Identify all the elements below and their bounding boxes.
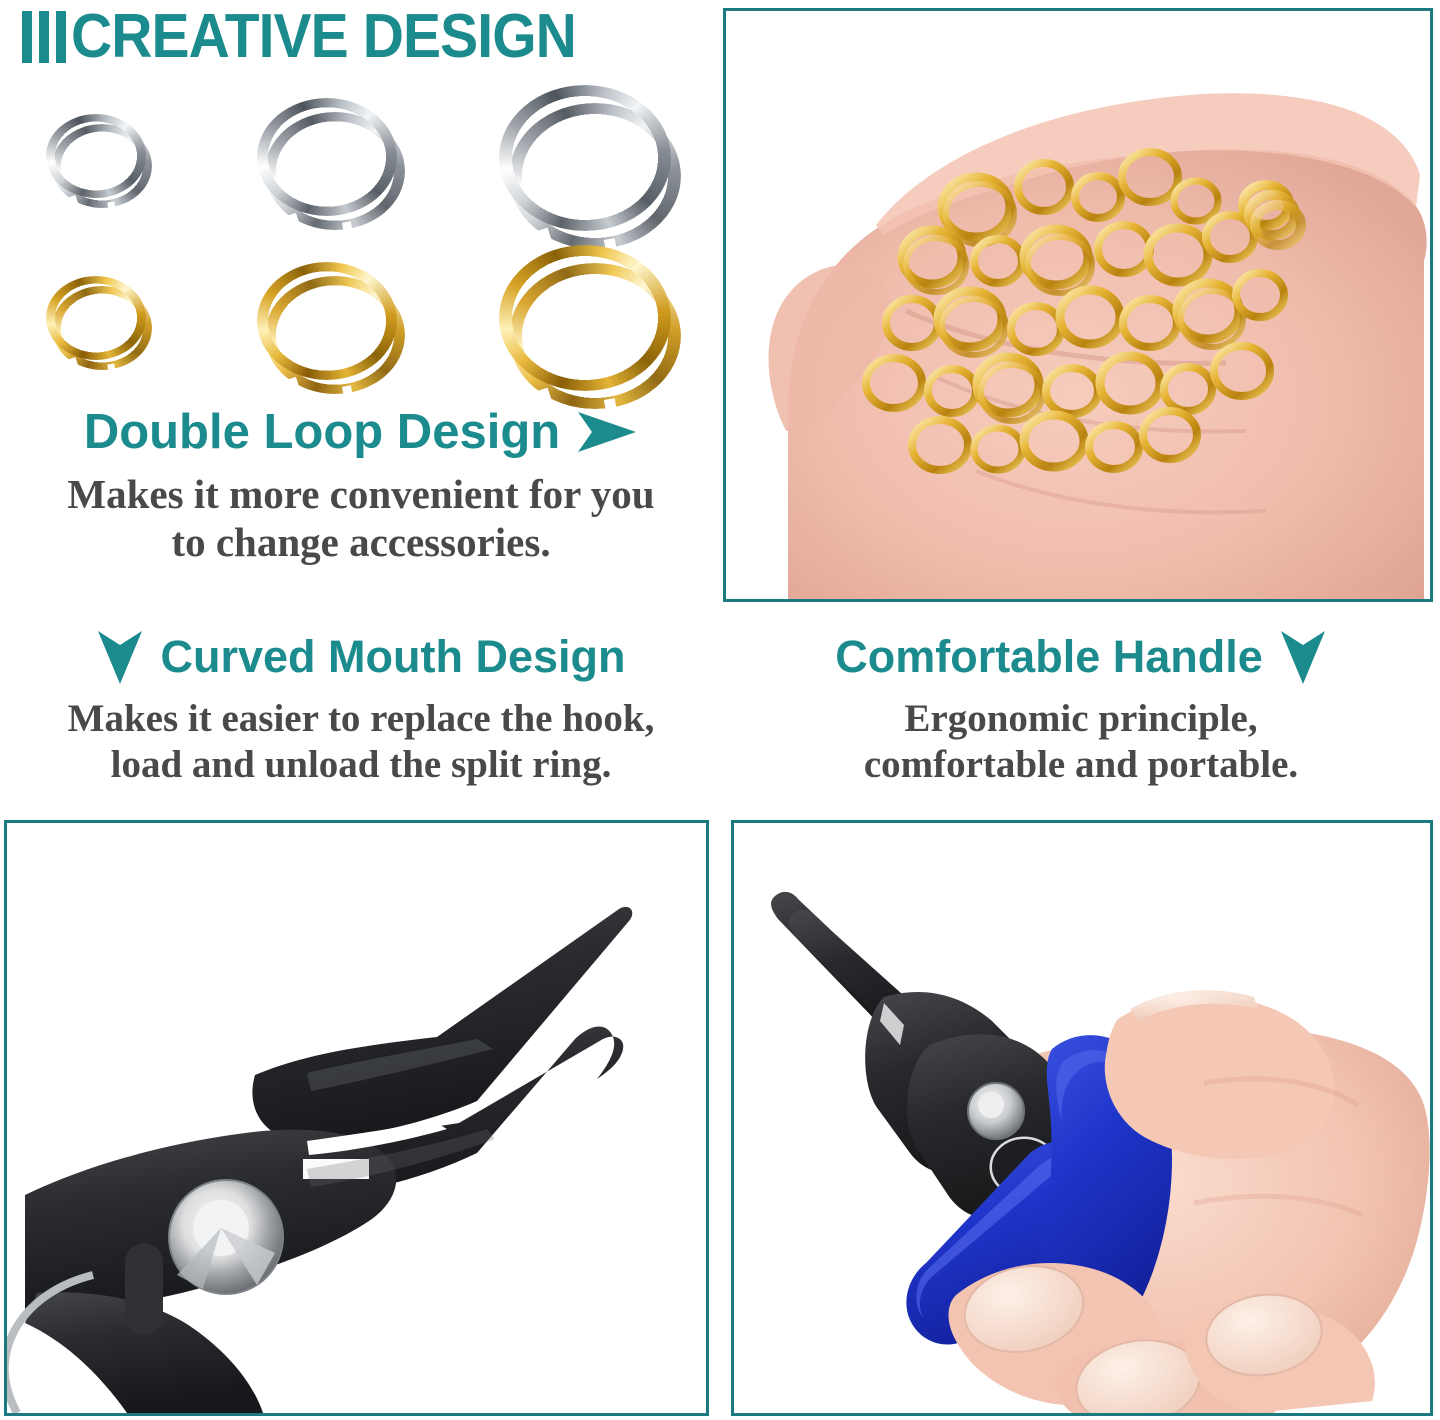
feature-double-loop-body: Makes it more convenient for you to chan… — [0, 470, 722, 567]
brand-header: CREATIVE DESIGN — [22, 4, 620, 70]
page-title: CREATIVE DESIGN — [71, 8, 576, 66]
feature-comfortable-handle-heading-text: Comfortable Handle — [835, 631, 1263, 683]
palm-illustration — [726, 11, 1430, 599]
hand-with-pliers-illustration — [734, 823, 1430, 1413]
medium-gold-split-ring — [248, 254, 418, 404]
feature-curved-mouth-body-line-2: load and unload the split ring. — [10, 742, 712, 788]
split-ring-size-chart — [18, 96, 708, 396]
infographic-page: CREATIVE DESIGN — [0, 0, 1440, 1420]
feature-curved-mouth-heading: Curved Mouth Design — [0, 628, 722, 686]
small-gold-split-ring — [40, 268, 160, 378]
large-silver-split-ring — [488, 78, 698, 258]
photo-palm-of-gold-rings — [723, 8, 1433, 602]
feature-double-loop-heading-text: Double Loop Design — [84, 404, 560, 460]
feature-curved-mouth: Curved Mouth Design Makes it easier to r… — [0, 628, 722, 788]
feature-double-loop-body-line-2: to change accessories. — [14, 518, 708, 566]
feature-curved-mouth-body: Makes it easier to replace the hook, loa… — [0, 696, 722, 788]
medium-silver-split-ring — [248, 90, 418, 240]
pliers-illustration — [7, 823, 706, 1413]
feature-double-loop-heading: Double Loop Design — [0, 404, 722, 460]
feature-comfortable-handle-heading: Comfortable Handle — [722, 628, 1440, 686]
feature-double-loop-body-line-1: Makes it more convenient for you — [14, 470, 708, 518]
arrow-down-icon — [96, 628, 144, 686]
brand-bars-icon — [22, 11, 66, 63]
feature-comfortable-handle-body: Ergonomic principle, comfortable and por… — [722, 696, 1440, 788]
feature-comfortable-handle-body-line-2: comfortable and portable. — [752, 742, 1410, 788]
photo-hand-holding-blue-pliers — [731, 820, 1433, 1416]
photo-curved-mouth-pliers — [4, 820, 709, 1416]
feature-comfortable-handle: Comfortable Handle Ergonomic principle, … — [722, 628, 1440, 788]
feature-double-loop: Double Loop Design Makes it more conveni… — [0, 404, 722, 567]
arrow-down-icon — [1279, 628, 1327, 686]
feature-curved-mouth-body-line-1: Makes it easier to replace the hook, — [10, 696, 712, 742]
feature-comfortable-handle-body-line-1: Ergonomic principle, — [752, 696, 1410, 742]
feature-curved-mouth-heading-text: Curved Mouth Design — [160, 631, 625, 683]
large-gold-split-ring — [488, 238, 698, 418]
arrow-right-icon — [576, 410, 638, 454]
small-silver-split-ring — [40, 106, 160, 216]
